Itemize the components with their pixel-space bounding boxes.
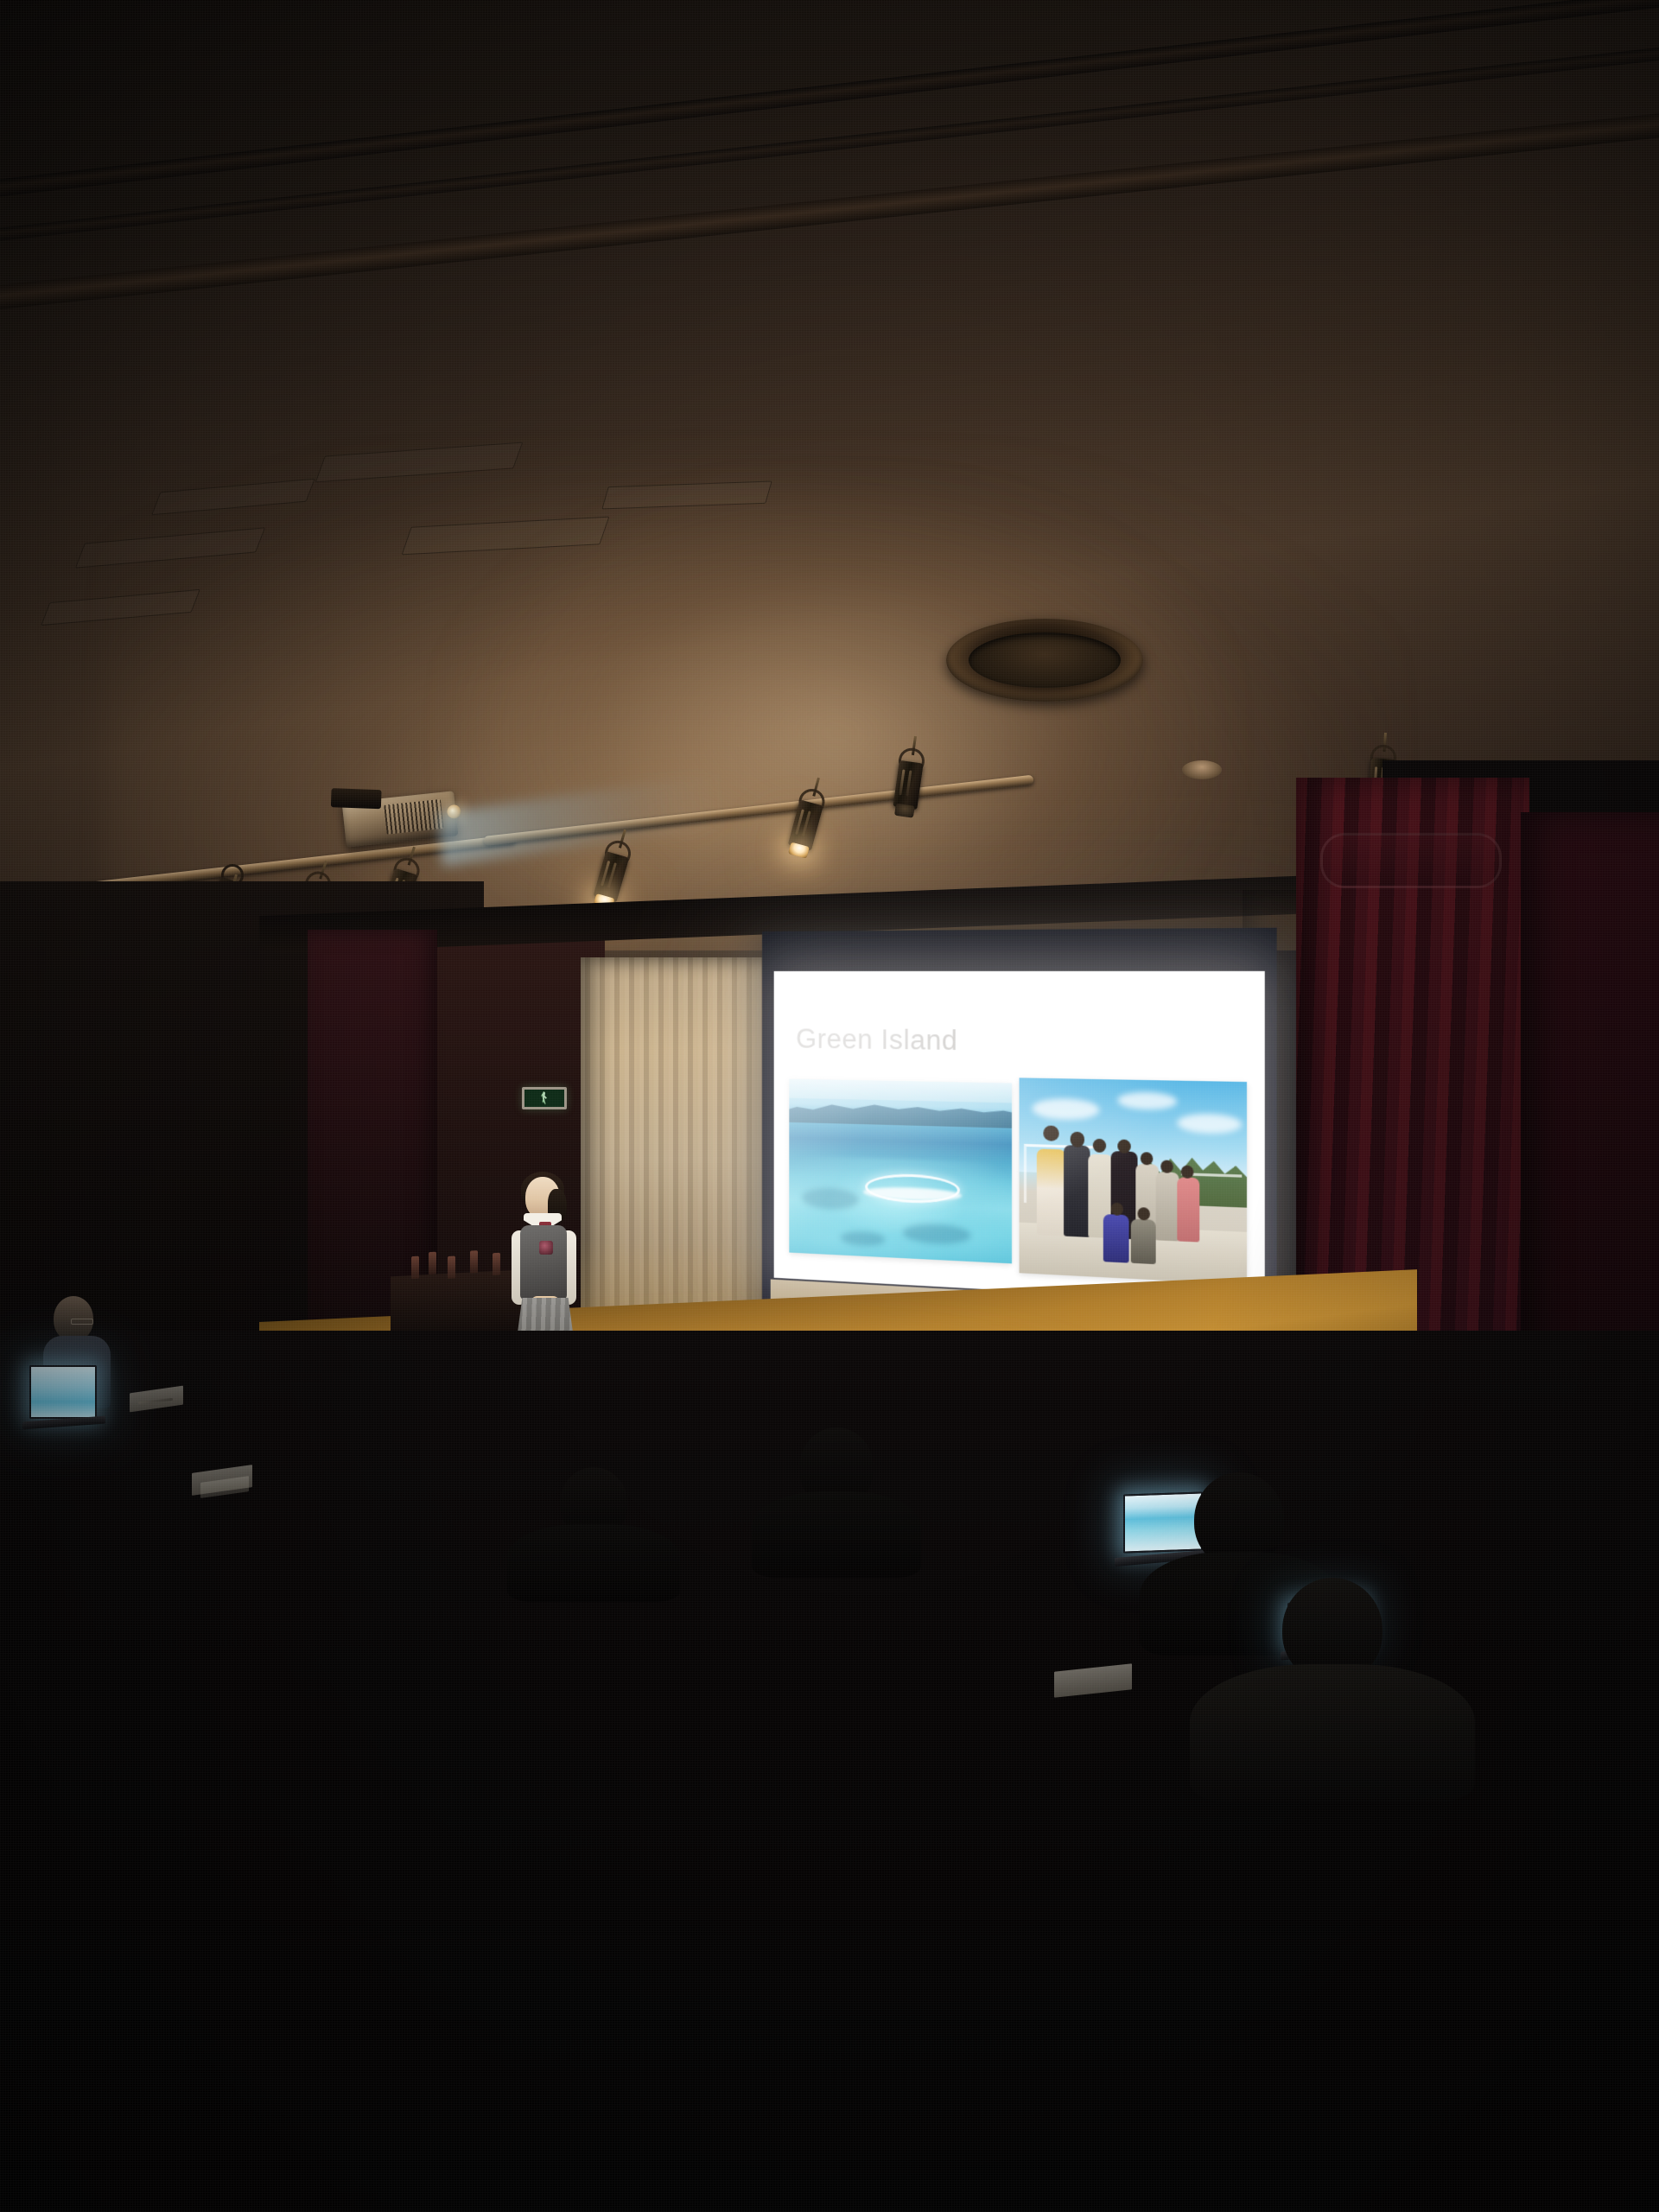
trophy-icon bbox=[470, 1250, 478, 1273]
ceiling-beam bbox=[0, 0, 1659, 200]
spotlight-body bbox=[893, 760, 923, 810]
audience-member-2 bbox=[750, 1427, 923, 1566]
emergency-exit-sign bbox=[522, 1087, 567, 1109]
presentation-slide: Green Island bbox=[774, 971, 1265, 1305]
photo-person-head bbox=[1117, 1139, 1131, 1154]
audience-member-1 bbox=[503, 1467, 684, 1588]
photo-person-crouching bbox=[1103, 1214, 1128, 1262]
ceiling-dome-light-icon bbox=[1182, 760, 1222, 779]
person-torso bbox=[1190, 1664, 1475, 1802]
photo-person-head bbox=[1044, 1125, 1059, 1141]
audience-member-4 bbox=[1203, 1578, 1462, 1785]
slide-title: Green Island bbox=[796, 1023, 957, 1057]
school-crest-icon bbox=[539, 1241, 553, 1255]
photo-sky bbox=[789, 1079, 1012, 1103]
photo-person bbox=[1177, 1177, 1200, 1242]
trophy-icon bbox=[411, 1256, 419, 1279]
photo-person bbox=[1156, 1173, 1179, 1242]
trophy-icon bbox=[493, 1253, 500, 1275]
running-person-icon bbox=[541, 1091, 549, 1105]
person-torso bbox=[752, 1491, 921, 1578]
trophy-icon bbox=[429, 1252, 436, 1274]
person-torso bbox=[507, 1524, 680, 1602]
photo-reef bbox=[789, 1155, 1012, 1264]
spotlight-lens bbox=[894, 804, 915, 818]
photo-person-head bbox=[1070, 1132, 1084, 1147]
laptop-screen[interactable] bbox=[29, 1365, 97, 1419]
aerial-island-photo bbox=[789, 1079, 1012, 1264]
photo-person-head bbox=[1140, 1152, 1153, 1165]
photo-person-crouching bbox=[1131, 1219, 1156, 1264]
presenter-vest bbox=[520, 1225, 567, 1300]
photo-person-head bbox=[1110, 1202, 1122, 1215]
photo-person bbox=[1037, 1148, 1065, 1236]
trophy-icon bbox=[448, 1255, 455, 1278]
photo-person-head bbox=[1092, 1138, 1106, 1152]
glasses-icon bbox=[71, 1319, 93, 1325]
auditorium-scene: Green Island bbox=[0, 0, 1659, 2212]
projector-mount bbox=[331, 788, 382, 809]
group-photo bbox=[1020, 1077, 1247, 1284]
photo-person bbox=[1064, 1146, 1090, 1237]
curtain-valance bbox=[1320, 833, 1502, 888]
projector-vents bbox=[384, 799, 443, 835]
slide-photo-row bbox=[789, 1074, 1253, 1291]
recessed-ceiling-speaker-icon bbox=[946, 619, 1143, 702]
